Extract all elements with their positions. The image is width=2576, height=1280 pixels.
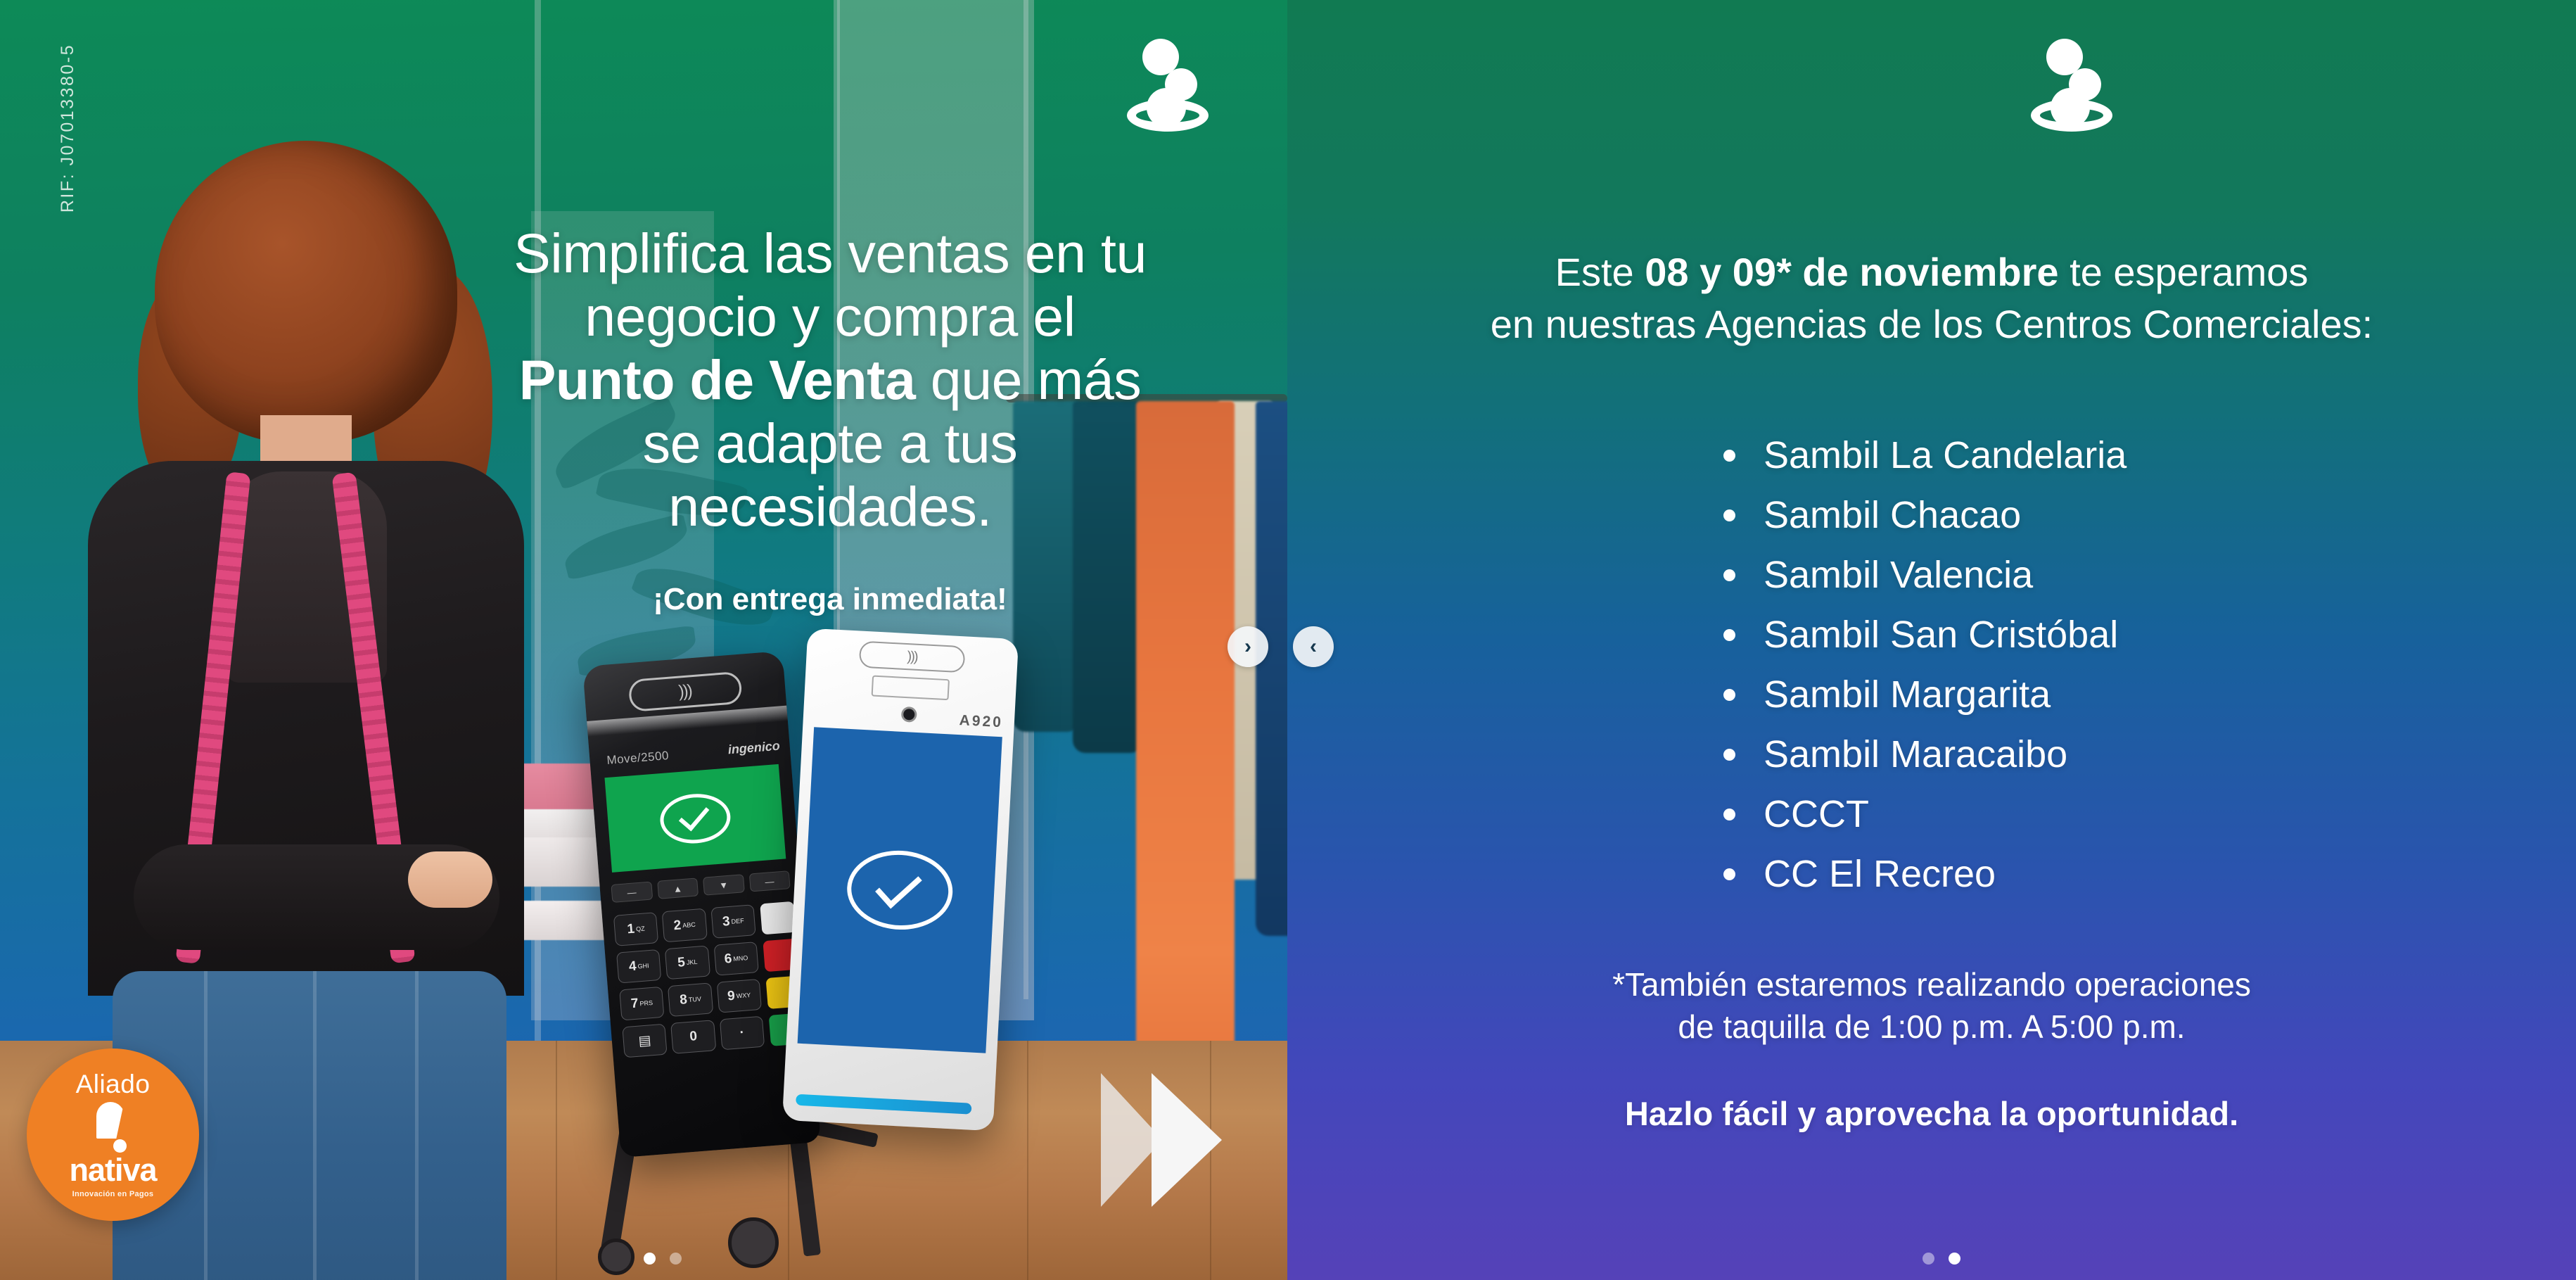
key-7: 7PRS	[619, 987, 665, 1021]
key-0: 0	[670, 1020, 716, 1054]
fast-forward-icon[interactable]	[1101, 1073, 1249, 1207]
badge-tagline: Innovación en Pagos	[72, 1190, 154, 1198]
key-5: 5JKL	[665, 945, 710, 980]
checkmark-icon	[658, 791, 732, 846]
device-gloss	[587, 706, 788, 737]
banesco-logo-icon	[2029, 39, 2114, 134]
device-brand-label: ingenico	[727, 739, 780, 758]
bullet-dot-icon	[1723, 749, 1735, 761]
device-light-strip	[796, 1094, 971, 1115]
keypad: 1QZ 2ABC 3DEF 4GHI 5JKL 6MNO 7PRS 8TUV 9…	[613, 904, 765, 1058]
footnote-line1: *También estaremos realizando operacione…	[1612, 966, 2251, 1003]
slide-right-agencias[interactable]: Este 08 y 09* de noviembre te esperamos …	[1287, 0, 2576, 1280]
locations-list: Sambil La Candelaria Sambil Chacao Sambi…	[1723, 436, 2127, 915]
right-headline-line2: en nuestras Agencias de los Centros Come…	[1491, 302, 2373, 346]
terminal-screen-approved	[604, 764, 786, 873]
left-subline: ¡Con entrega inmediata!	[506, 582, 1154, 617]
footnote-block: *También estaremos realizando operacione…	[1287, 964, 2576, 1048]
left-copy-block: Simplifica las ventas en tu negocio y co…	[506, 222, 1154, 617]
fn-key-up: ▲	[657, 877, 699, 899]
bullet-dot-icon	[1723, 868, 1735, 880]
device-model-label: A920	[959, 712, 1003, 731]
contactless-nfc-icon: )))	[627, 671, 742, 712]
list-item: CCCT	[1723, 795, 2127, 833]
badge-aliado-label: Aliado	[76, 1071, 151, 1097]
function-key-row: — ▲ ▼ —	[611, 870, 790, 903]
bullet-dot-icon	[1723, 450, 1735, 462]
pos-terminals-group: ))) Move/2500 ingenico — ▲ ▼ — 1QZ 2ABC …	[591, 633, 1097, 1196]
list-item: Sambil Valencia	[1723, 556, 2127, 594]
badge-brand-label: nativa	[69, 1154, 156, 1186]
key-2: 2ABC	[662, 908, 708, 943]
key-6: 6MNO	[713, 942, 759, 976]
location-label: Sambil San Cristóbal	[1764, 616, 2118, 654]
bullet-dot-icon	[1723, 509, 1735, 521]
garment	[1256, 401, 1287, 936]
list-item: Sambil Maracaibo	[1723, 735, 2127, 773]
key-8: 8TUV	[668, 982, 713, 1017]
list-item: Sambil San Cristóbal	[1723, 616, 2127, 654]
right-headline: Este 08 y 09* de noviembre te esperamos …	[1287, 246, 2576, 351]
carousel-prev-button[interactable]: ‹	[1293, 626, 1334, 667]
banesco-logo-icon	[1126, 39, 1210, 134]
card-slot-icon	[872, 676, 950, 701]
fn-key-minus: —	[611, 882, 652, 903]
terminal-screen-approved	[798, 727, 1002, 1053]
location-label: Sambil Margarita	[1764, 676, 2051, 714]
checkmark-icon	[845, 848, 955, 932]
list-item: Sambil La Candelaria	[1723, 436, 2127, 474]
right-headline-pre: Este	[1555, 250, 1645, 294]
carousel-next-button[interactable]: ›	[1228, 626, 1268, 667]
aliado-nativa-badge: Aliado nativa Innovación en Pagos	[27, 1048, 199, 1221]
location-label: Sambil Maracaibo	[1764, 735, 2067, 773]
headline-part1: Simplifica las ventas en tu negocio y co…	[514, 222, 1147, 348]
bullet-dot-icon	[1723, 629, 1735, 641]
location-label: Sambil Valencia	[1764, 556, 2033, 594]
list-item: Sambil Margarita	[1723, 676, 2127, 714]
contactless-nfc-icon: )))	[859, 641, 966, 673]
carousel-dot-1[interactable]	[644, 1253, 656, 1265]
bullet-dot-icon	[1723, 569, 1735, 581]
location-label: Sambil La Candelaria	[1764, 436, 2127, 474]
carousel-dot-1[interactable]	[1923, 1253, 1934, 1265]
carousel-dot-2[interactable]	[1949, 1253, 1960, 1265]
list-item: Sambil Chacao	[1723, 496, 2127, 534]
banner-carousel: RIF: J07013380-5 Simplifica las ventas e…	[0, 0, 2576, 1280]
right-headline-post: te esperamos	[2059, 250, 2309, 294]
carousel-dots-left[interactable]	[644, 1253, 682, 1265]
footnote-line2: de taquilla de 1:00 p.m. A 5:00 p.m.	[1678, 1008, 2185, 1045]
location-label: CC El Recreo	[1764, 855, 1996, 893]
device-model-label: Move/2500	[606, 749, 670, 768]
pax-a920-terminal: ))) A920	[782, 628, 1019, 1132]
key-3: 3DEF	[710, 904, 756, 939]
rif-legal-label: RIF: J07013380-5	[58, 44, 78, 213]
left-headline: Simplifica las ventas en tu negocio y co…	[506, 222, 1154, 538]
right-headline-dates: 08 y 09* de noviembre	[1645, 250, 2058, 294]
key-4: 4GHI	[616, 949, 662, 984]
carousel-dots-right[interactable]	[1923, 1253, 1960, 1265]
nativa-logo-icon	[91, 1102, 136, 1153]
location-label: Sambil Chacao	[1764, 496, 2021, 534]
key-func: ▤	[622, 1024, 668, 1058]
fn-key-down: ▼	[703, 874, 744, 895]
carousel-dot-2[interactable]	[670, 1253, 682, 1265]
curly-hair	[155, 141, 457, 443]
bullet-dot-icon	[1723, 689, 1735, 701]
key-dot: ·	[720, 1016, 765, 1051]
headline-bold: Punto de Venta	[519, 348, 916, 411]
bullet-dot-icon	[1723, 809, 1735, 820]
list-item: CC El Recreo	[1723, 855, 2127, 893]
key-menu	[760, 901, 796, 935]
key-9: 9WXY	[716, 979, 762, 1013]
fn-key-plus: —	[748, 870, 790, 892]
slide-left-punto-de-venta[interactable]: RIF: J07013380-5 Simplifica las ventas e…	[0, 0, 1287, 1280]
camera-icon	[901, 706, 917, 723]
location-label: CCCT	[1764, 795, 1869, 833]
cta-text: Hazlo fácil y aprovecha la oportunidad.	[1287, 1094, 2576, 1133]
key-1: 1QZ	[613, 912, 659, 946]
hand	[408, 851, 492, 908]
